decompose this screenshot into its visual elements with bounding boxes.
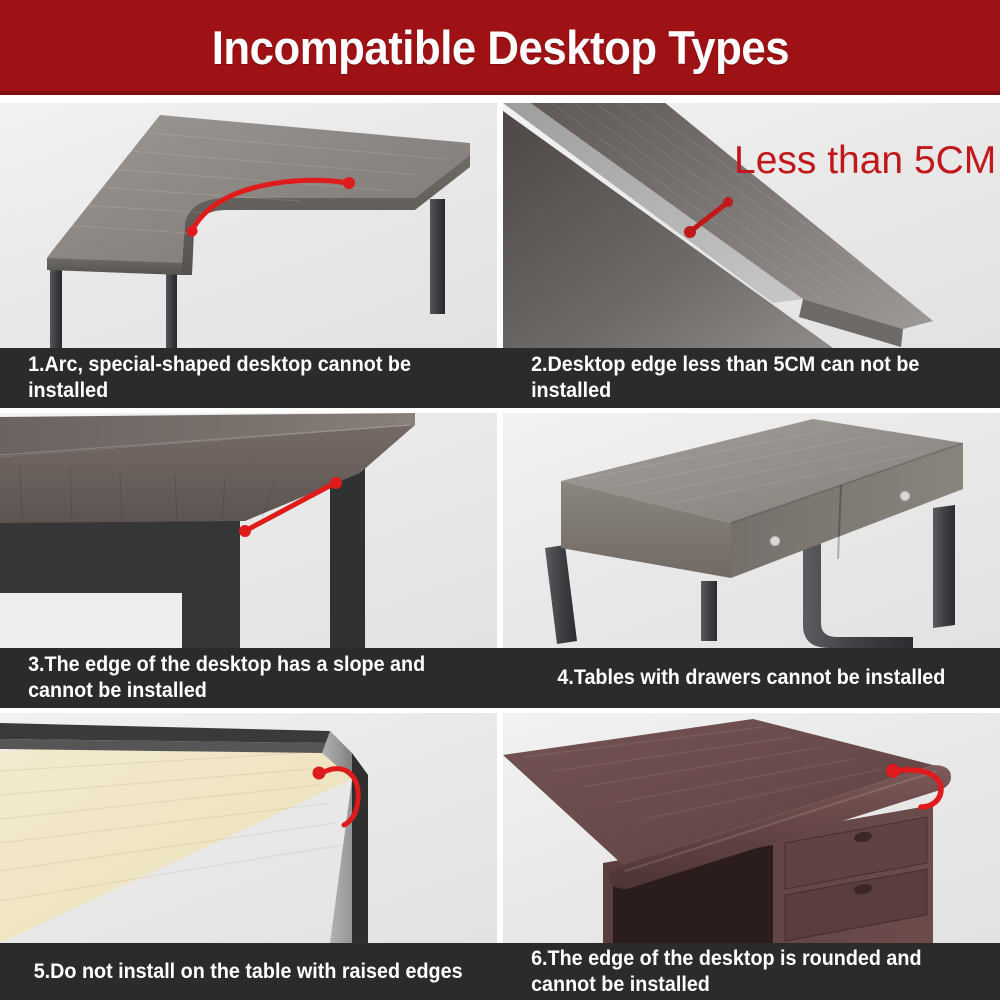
desk-leg-mid xyxy=(166,273,177,348)
desk-leg-right xyxy=(430,199,445,314)
drawer-knob-1 xyxy=(770,536,780,546)
panel-3-image xyxy=(0,413,497,648)
caption-5-text: 5.Do not install on the table with raise… xyxy=(34,959,463,985)
caption-1-text: 1.Arc, special-shaped desktop cannot be … xyxy=(28,352,469,404)
caption-5: 5.Do not install on the table with raise… xyxy=(0,943,497,1000)
panel-1-caption-bar: 1.Arc, special-shaped desktop cannot be … xyxy=(0,348,497,408)
caption-6-text: 6.The edge of the desktop is rounded and… xyxy=(531,946,972,998)
caption-2-text: 2.Desktop edge less than 5CM can not be … xyxy=(531,352,972,404)
panel-6-caption-bar: 6.The edge of the desktop is rounded and… xyxy=(503,943,1000,1000)
panel-5-image xyxy=(0,713,497,943)
photo-l-shaped-desk xyxy=(0,103,497,348)
drawer-knob-2 xyxy=(900,491,910,501)
caption-3-text: 3.The edge of the desktop has a slope an… xyxy=(28,652,469,704)
desk-leg-left xyxy=(545,545,577,644)
photo-rounded-edge-desk xyxy=(503,713,1000,943)
panel-grid: Less than 5CM 1.Arc, special-shaped desk… xyxy=(0,103,1000,1000)
caption-3: 3.The edge of the desktop has a slope an… xyxy=(0,648,497,708)
panel-4-image xyxy=(503,413,1000,648)
page-title: Incompatible Desktop Types xyxy=(211,20,788,75)
photo-raised-edge-table xyxy=(0,713,497,943)
photo-thin-desk-edge: Less than 5CM xyxy=(503,103,1000,348)
desk-leg-right xyxy=(330,461,365,648)
panel-6-image xyxy=(503,713,1000,943)
desk-sled-leg xyxy=(803,543,913,648)
page-header-banner: Incompatible Desktop Types xyxy=(0,0,1000,95)
caption-4-text: 4.Tables with drawers cannot be installe… xyxy=(558,665,946,691)
annotation-label-less-than-5cm: Less than 5CM xyxy=(734,139,996,183)
photo-sloped-desk-edge xyxy=(0,413,497,648)
panel-5-caption-bar: 5.Do not install on the table with raise… xyxy=(0,943,497,1000)
rim-shadow-right xyxy=(352,753,368,943)
desk-leg-front xyxy=(701,581,717,641)
desk-top-surface xyxy=(47,115,470,268)
desk-apron-cutout xyxy=(0,593,182,648)
desk-leg-back-right xyxy=(933,505,955,628)
panel-1-image xyxy=(0,103,497,348)
caption-4: 4.Tables with drawers cannot be installe… xyxy=(503,648,1000,708)
desk-leg-left xyxy=(50,263,62,348)
header-underline-divider xyxy=(0,91,1000,95)
caption-1: 1.Arc, special-shaped desktop cannot be … xyxy=(0,348,497,408)
panel-3-caption-bar: 3.The edge of the desktop has a slope an… xyxy=(0,648,497,708)
caption-6: 6.The edge of the desktop is rounded and… xyxy=(503,943,1000,1000)
panel-2-caption-bar: 2.Desktop edge less than 5CM can not be … xyxy=(503,348,1000,408)
panel-4-caption-bar: 4.Tables with drawers cannot be installe… xyxy=(503,648,1000,708)
infographic-page: Incompatible Desktop Types xyxy=(0,0,1000,1000)
caption-2: 2.Desktop edge less than 5CM can not be … xyxy=(503,348,1000,408)
photo-desk-with-drawers xyxy=(503,413,1000,648)
panel-2-image: Less than 5CM xyxy=(503,103,1000,348)
